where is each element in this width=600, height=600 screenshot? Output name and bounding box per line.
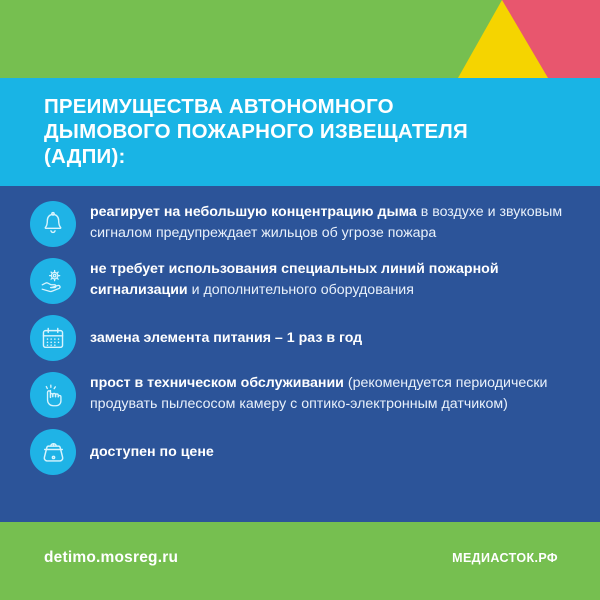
list-item-text: замена элемента питания – 1 раз в год: [90, 326, 362, 349]
list-item-text: прост в техническом обслуживании (рекоме…: [90, 371, 570, 414]
yellow-triangle: [458, 0, 548, 78]
benefits-section: реагирует на небольшую концентрацию дыма…: [0, 186, 600, 522]
calendar-icon: [30, 315, 76, 361]
list-item-bold-text: реагирует на небольшую концентрацию дыма: [90, 204, 417, 220]
list-item: не требует использования специальных лин…: [30, 257, 570, 304]
list-item-text: реагирует на небольшую концентрацию дыма…: [90, 200, 570, 243]
list-item-normal-text: и дополнительного оборудования: [188, 282, 414, 298]
footer-brand-label: МЕДИАСТОК.РФ: [452, 551, 558, 565]
benefits-list: реагирует на небольшую концентрацию дыма…: [30, 200, 570, 475]
infographic-poster: ПРЕИМУЩЕСТВА АВТОНОМНОГО ДЫМОВОГО ПОЖАРН…: [0, 0, 600, 600]
list-item-bold-text: замена элемента питания – 1 раз в год: [90, 330, 362, 346]
list-item-text: не требует использования специальных лин…: [90, 257, 570, 300]
purse-icon: [30, 429, 76, 475]
list-item: доступен по цене: [30, 428, 570, 475]
hand-holding-gear-icon: [30, 258, 76, 304]
list-item-bold-text: доступен по цене: [90, 444, 214, 460]
list-item: замена элемента питания – 1 раз в год: [30, 314, 570, 361]
top-decorative-band: [0, 0, 600, 78]
footer-website-link[interactable]: detimo.mosreg.ru: [44, 549, 178, 567]
page-title: ПРЕИМУЩЕСТВА АВТОНОМНОГО ДЫМОВОГО ПОЖАРН…: [44, 94, 564, 169]
header-banner: ПРЕИМУЩЕСТВА АВТОНОМНОГО ДЫМОВОГО ПОЖАРН…: [0, 78, 600, 186]
list-item-bold-text: прост в техническом обслуживании: [90, 375, 344, 391]
bell-icon: [30, 201, 76, 247]
list-item: реагирует на небольшую концентрацию дыма…: [30, 200, 570, 247]
list-item-text: доступен по цене: [90, 440, 214, 463]
tapping-hand-icon: [30, 372, 76, 418]
list-item: прост в техническом обслуживании (рекоме…: [30, 371, 570, 418]
footer-bar: detimo.mosreg.ru МЕДИАСТОК.РФ: [0, 522, 600, 600]
